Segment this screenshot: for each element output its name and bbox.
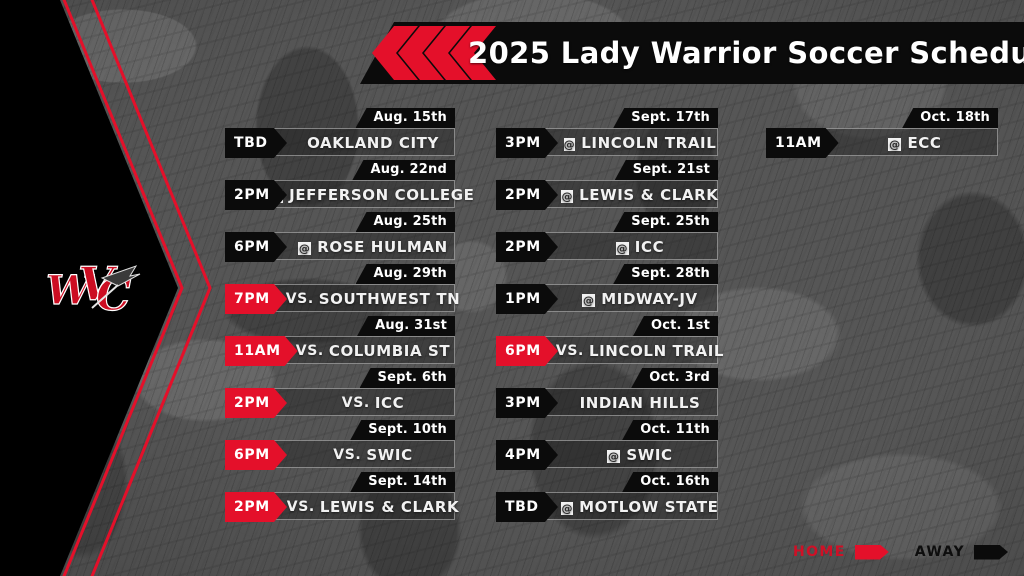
game-bar: @SWIC4PM [496,440,718,468]
game-bar: @ICC2PM [496,232,718,260]
game-time-badge-away: 2PM [225,180,287,210]
at-symbol-icon: @ [561,502,573,515]
game-date: Oct. 11th [622,420,718,440]
game-row: Sept. 17th@LINCOLN TRAIL3PM [496,108,718,160]
game-row: Aug. 22nd@JEFFERSON COLLEGE2PM [225,160,455,212]
schedule-column-2: Sept. 17th@LINCOLN TRAIL3PMSept. 21st@LE… [496,108,718,524]
game-date: Aug. 25th [356,212,455,232]
game-prefix: VS. [342,395,370,411]
game-bar-inner: VS.LINCOLN TRAIL6PM [497,337,717,363]
game-bar: INDIAN HILLS3PM [496,388,718,416]
game-bar: @ROSE HULMAN6PM [225,232,455,260]
game-opponent-name: ICC [375,394,404,412]
game-time-badge-away: 4PM [496,440,558,470]
game-bar: @ECC11AM [766,128,998,156]
at-symbol-icon: @ [561,190,573,203]
game-time-badge-home: 7PM [225,284,287,314]
game-prefix: VS. [296,343,324,359]
game-date: Aug. 22nd [352,160,455,180]
game-opponent-name: MOTLOW STATE [579,498,718,516]
game-date: Sept. 10th [350,420,455,440]
game-row: Aug. 29thVS.SOUTHWEST TN7PM [225,264,455,316]
game-opponent-name: SOUTHWEST TN [319,290,461,308]
game-opponent-name: MIDWAY-JV [601,290,697,308]
game-bar: VS.LINCOLN TRAIL6PM [496,336,718,364]
game-time-badge-home: 6PM [496,336,558,366]
game-bar: OAKLAND CITYTBD [225,128,455,156]
game-date: Oct. 16th [622,472,718,492]
game-bar-inner: @JEFFERSON COLLEGE2PM [226,181,454,207]
game-bar-inner: @ECC11AM [767,129,997,155]
game-date: Sept. 25th [613,212,718,232]
at-symbol-icon: @ [564,138,576,151]
game-row: Sept. 21st@LEWIS & CLARK2PM [496,160,718,212]
legend-item-away: AWAY [915,544,1008,560]
game-date: Aug. 31st [357,316,455,336]
game-bar: VS.SWIC6PM [225,440,455,468]
at-symbol-icon: @ [616,242,629,255]
schedule-column-1: Aug. 15thOAKLAND CITYTBDAug. 22nd@JEFFER… [225,108,455,524]
game-opponent-name: COLUMBIA ST [329,342,450,360]
game-time-badge-away: TBD [496,492,558,522]
game-bar-inner: VS.ICC2PM [226,389,454,415]
header-banner: 2025 Lady Warrior Soccer Schedule [350,22,1024,84]
game-time-badge-away: 2PM [496,232,558,262]
game-opponent-name: LINCOLN TRAIL [589,342,724,360]
game-opponent-name: LINCOLN TRAIL [581,134,716,152]
game-date: Aug. 15th [356,108,455,128]
at-symbol-icon: @ [582,294,595,307]
game-time-badge-away: 6PM [225,232,287,262]
game-bar: VS.LEWIS & CLARK2PM [225,492,455,520]
game-bar: @LEWIS & CLARK2PM [496,180,718,208]
game-opponent-name: OAKLAND CITY [307,134,439,152]
game-opponent-name: ICC [635,238,664,256]
game-row: Oct. 3rdINDIAN HILLS3PM [496,368,718,420]
game-bar-inner: VS.COLUMBIA ST11AM [226,337,454,363]
legend-away-label: AWAY [915,544,965,560]
game-bar: VS.COLUMBIA ST11AM [225,336,455,364]
home-arrow-icon [855,545,889,560]
game-date: Sept. 14th [350,472,455,492]
schedule-graphic: W V C 2025 Lady Warrior Soccer Schedule … [0,0,1024,576]
game-bar-inner: INDIAN HILLS3PM [497,389,717,415]
schedule-column-3: Oct. 18th@ECC11AM [766,108,998,160]
game-row: Sept. 25th@ICC2PM [496,212,718,264]
game-bar-inner: @LEWIS & CLARK2PM [497,181,717,207]
game-time-badge-home: 2PM [225,492,287,522]
game-time-badge-home: 11AM [225,336,298,366]
game-date: Sept. 17th [613,108,718,128]
legend: HOME AWAY [793,540,1008,564]
game-row: Aug. 15thOAKLAND CITYTBD [225,108,455,160]
game-date: Sept. 28th [613,264,718,284]
game-bar-inner: @MOTLOW STATETBD [497,493,717,519]
at-symbol-icon: @ [607,450,620,463]
game-date: Sept. 21st [615,160,718,180]
game-date: Oct. 18th [902,108,998,128]
game-time-badge-away: 2PM [496,180,558,210]
game-row: Sept. 14thVS.LEWIS & CLARK2PM [225,472,455,524]
game-opponent-name: ECC [907,134,941,152]
game-opponent-name: SWIC [626,446,672,464]
game-opponent-name: INDIAN HILLS [580,394,701,412]
game-opponent-name: JEFFERSON COLLEGE [289,186,474,204]
game-bar: @JEFFERSON COLLEGE2PM [225,180,455,208]
game-bar: @MIDWAY-JV1PM [496,284,718,312]
game-time-badge-away: 3PM [496,388,558,418]
legend-home-label: HOME [793,544,846,560]
game-prefix: VS. [333,447,361,463]
game-date: Oct. 1st [633,316,718,336]
game-bar-inner: @LINCOLN TRAIL3PM [497,129,717,155]
game-bar-inner: @SWIC4PM [497,441,717,467]
schedule-columns: Aug. 15thOAKLAND CITYTBDAug. 22nd@JEFFER… [0,108,1024,538]
game-prefix: VS. [556,343,584,359]
game-bar-inner: VS.LEWIS & CLARK2PM [226,493,454,519]
at-symbol-icon: @ [298,242,311,255]
game-time-badge-away: 3PM [496,128,558,158]
game-row: Sept. 28th@MIDWAY-JV1PM [496,264,718,316]
game-bar-inner: VS.SWIC6PM [226,441,454,467]
game-row: Oct. 11th@SWIC4PM [496,420,718,472]
page-title: 2025 Lady Warrior Soccer Schedule [468,22,1024,84]
game-date: Sept. 6th [360,368,455,388]
game-time-badge-home: 2PM [225,388,287,418]
game-row: Sept. 10thVS.SWIC6PM [225,420,455,472]
game-bar: VS.ICC2PM [225,388,455,416]
game-row: Sept. 6thVS.ICC2PM [225,368,455,420]
game-opponent-name: SWIC [366,446,412,464]
game-bar: @LINCOLN TRAIL3PM [496,128,718,156]
game-row: Oct. 1stVS.LINCOLN TRAIL6PM [496,316,718,368]
game-prefix: VS. [286,291,314,307]
game-row: Oct. 16th@MOTLOW STATETBD [496,472,718,524]
game-bar-inner: VS.SOUTHWEST TN7PM [226,285,454,311]
game-bar-inner: @ICC2PM [497,233,717,259]
away-arrow-icon [974,545,1008,560]
game-time-badge-away: TBD [225,128,287,158]
game-bar: VS.SOUTHWEST TN7PM [225,284,455,312]
at-symbol-icon: @ [888,138,901,151]
game-prefix: VS. [287,499,315,515]
game-date: Aug. 29th [356,264,455,284]
game-date: Oct. 3rd [631,368,718,388]
game-time-badge-away: 1PM [496,284,558,314]
game-row: Aug. 31stVS.COLUMBIA ST11AM [225,316,455,368]
game-row: Oct. 18th@ECC11AM [766,108,998,160]
legend-item-home: HOME [793,544,889,560]
game-time-badge-away: 11AM [766,128,839,158]
game-opponent-name: LEWIS & CLARK [320,498,459,516]
game-opponent-name: LEWIS & CLARK [579,186,718,204]
game-bar-inner: @MIDWAY-JV1PM [497,285,717,311]
game-bar: @MOTLOW STATETBD [496,492,718,520]
game-bar-inner: @ROSE HULMAN6PM [226,233,454,259]
game-time-badge-home: 6PM [225,440,287,470]
game-row: Aug. 25th@ROSE HULMAN6PM [225,212,455,264]
game-opponent-name: ROSE HULMAN [317,238,448,256]
game-bar-inner: OAKLAND CITYTBD [226,129,454,155]
